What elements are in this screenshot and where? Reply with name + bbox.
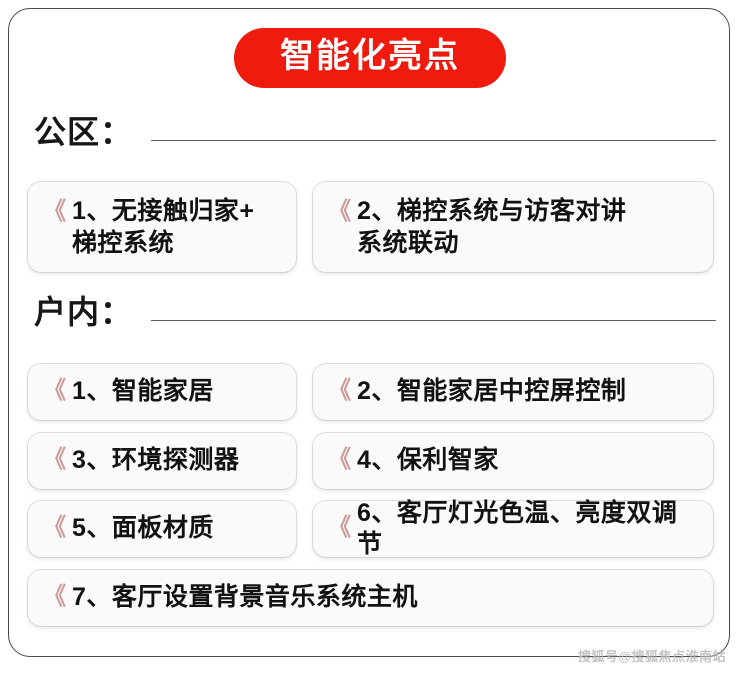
list-item[interactable]: 《 1、智能家居 bbox=[28, 364, 296, 420]
double-chevron-left-icon: 《 bbox=[329, 379, 347, 403]
section-divider-public bbox=[151, 140, 716, 141]
list-item-label-line1: 2、梯控系统与访客对讲 bbox=[357, 197, 626, 225]
double-chevron-left-icon: 《 bbox=[44, 585, 62, 609]
list-item-label-line2: 系统联动 bbox=[357, 229, 459, 257]
section-divider-indoor bbox=[151, 320, 716, 321]
poster-content: 智能化亮点 公区： 《 1、无接触归家+ 梯控系统 《 2、梯控系统与访客对讲 … bbox=[0, 0, 740, 673]
list-item-label-line2: 梯控系统 bbox=[72, 229, 174, 257]
list-item-label: 5、面板材质 bbox=[72, 513, 284, 545]
list-item-label: 1、无接触归家+ 梯控系统 bbox=[72, 196, 284, 259]
section-label-indoor: 户内： bbox=[34, 296, 133, 330]
double-chevron-left-icon: 《 bbox=[329, 516, 347, 540]
title-banner: 智能化亮点 bbox=[0, 28, 740, 88]
list-item-label: 1、智能家居 bbox=[72, 376, 284, 408]
section-label-public: 公区： bbox=[34, 116, 133, 150]
double-chevron-left-icon: 《 bbox=[329, 448, 347, 472]
list-item-label-line1: 1、无接触归家+ bbox=[72, 197, 255, 225]
list-item-label: 3、环境探测器 bbox=[72, 445, 284, 477]
list-item[interactable]: 《 6、客厅灯光色温、亮度双调节 bbox=[313, 501, 713, 557]
double-chevron-left-icon: 《 bbox=[44, 200, 62, 224]
list-item[interactable]: 《 2、梯控系统与访客对讲 系统联动 bbox=[313, 182, 713, 272]
list-item-label: 2、智能家居中控屏控制 bbox=[357, 376, 701, 408]
list-item[interactable]: 《 5、面板材质 bbox=[28, 501, 296, 557]
section-header-indoor: 户内： bbox=[34, 296, 716, 330]
list-item-label: 7、客厅设置背景音乐系统主机 bbox=[72, 582, 701, 614]
list-item-label: 2、梯控系统与访客对讲 系统联动 bbox=[357, 196, 701, 259]
list-item-label: 6、客厅灯光色温、亮度双调节 bbox=[357, 498, 701, 561]
double-chevron-left-icon: 《 bbox=[44, 516, 62, 540]
double-chevron-left-icon: 《 bbox=[44, 448, 62, 472]
list-item-label: 4、保利智家 bbox=[357, 445, 701, 477]
page-title: 智能化亮点 bbox=[234, 28, 506, 88]
section-header-public: 公区： bbox=[34, 116, 716, 150]
list-item[interactable]: 《 3、环境探测器 bbox=[28, 433, 296, 489]
list-item[interactable]: 《 7、客厅设置背景音乐系统主机 bbox=[28, 570, 713, 626]
watermark: 搜狐号@搜狐焦点淮南站 bbox=[578, 646, 726, 665]
list-item[interactable]: 《 2、智能家居中控屏控制 bbox=[313, 364, 713, 420]
double-chevron-left-icon: 《 bbox=[329, 200, 347, 224]
list-item[interactable]: 《 4、保利智家 bbox=[313, 433, 713, 489]
list-item[interactable]: 《 1、无接触归家+ 梯控系统 bbox=[28, 182, 296, 272]
double-chevron-left-icon: 《 bbox=[44, 379, 62, 403]
